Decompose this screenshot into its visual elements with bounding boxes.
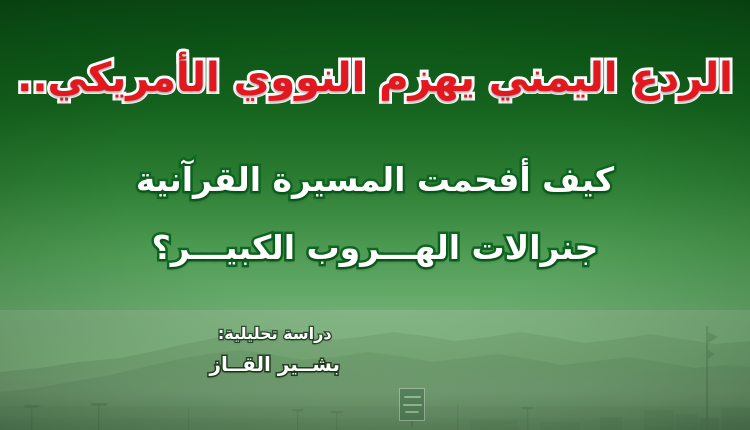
byline-label: دراسة تحليلية: <box>209 324 340 343</box>
poster-canvas: الردع اليمني يهزم النووي الأمريكي.. كيف … <box>0 0 750 430</box>
poster-text-stack: الردع اليمني يهزم النووي الأمريكي.. كيف … <box>0 0 750 430</box>
poster-byline: دراسة تحليلية: بشــير القــاز <box>209 324 340 376</box>
poster-headline: الردع اليمني يهزم النووي الأمريكي.. <box>0 58 750 98</box>
poster-subheadline-line-1: كيف أفحمت المسيرة القرآنية <box>0 163 750 196</box>
poster-subheadline-line-2: جنرالات الهـــروب الكبيـــر؟ <box>0 231 750 264</box>
byline-author-name: بشــير القــاز <box>209 352 340 376</box>
